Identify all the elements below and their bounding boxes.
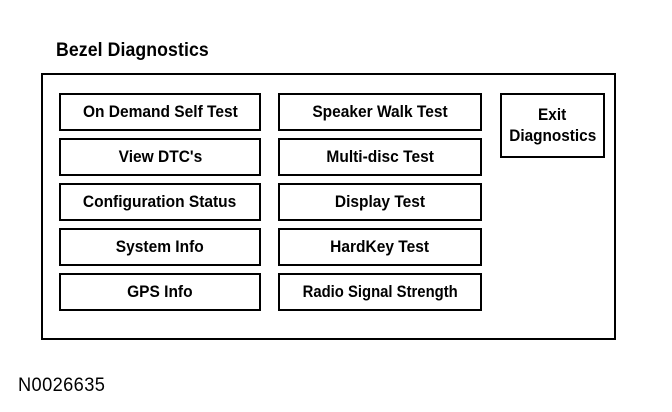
button-display-test[interactable]: Display Test — [278, 183, 482, 221]
button-label: View DTC's — [118, 149, 202, 166]
button-label: System Info — [116, 239, 204, 256]
button-label: Radio Signal Strength — [302, 284, 457, 301]
button-speaker-walk-test[interactable]: Speaker Walk Test — [278, 93, 482, 131]
button-label: GPS Info — [127, 284, 192, 301]
figure-caption: N0026635 — [18, 375, 105, 397]
button-label-line1: Exit — [538, 105, 566, 126]
button-label: On Demand Self Test — [83, 104, 238, 121]
button-view-dtcs[interactable]: View DTC's — [59, 138, 261, 176]
button-hardkey-test[interactable]: HardKey Test — [278, 228, 482, 266]
button-system-info[interactable]: System Info — [59, 228, 261, 266]
button-label: Configuration Status — [83, 194, 236, 211]
button-exit-diagnostics[interactable]: Exit Diagnostics — [500, 93, 605, 158]
button-label: HardKey Test — [331, 239, 430, 256]
button-radio-signal-strength[interactable]: Radio Signal Strength — [278, 273, 482, 311]
diagnostics-panel: On Demand Self Test View DTC's Configura… — [41, 73, 616, 340]
button-configuration-status[interactable]: Configuration Status — [59, 183, 261, 221]
button-label: Multi-disc Test — [326, 149, 433, 166]
button-label: Speaker Walk Test — [312, 104, 447, 121]
button-multi-disc-test[interactable]: Multi-disc Test — [278, 138, 482, 176]
button-gps-info[interactable]: GPS Info — [59, 273, 261, 311]
menu-column-left: On Demand Self Test View DTC's Configura… — [59, 93, 261, 311]
menu-column-middle: Speaker Walk Test Multi-disc Test Displa… — [278, 93, 482, 311]
button-on-demand-self-test[interactable]: On Demand Self Test — [59, 93, 261, 131]
menu-column-right: Exit Diagnostics — [500, 93, 605, 158]
page-title: Bezel Diagnostics — [56, 40, 209, 62]
button-label-line2: Diagnostics — [509, 126, 596, 147]
button-label: Display Test — [335, 194, 425, 211]
